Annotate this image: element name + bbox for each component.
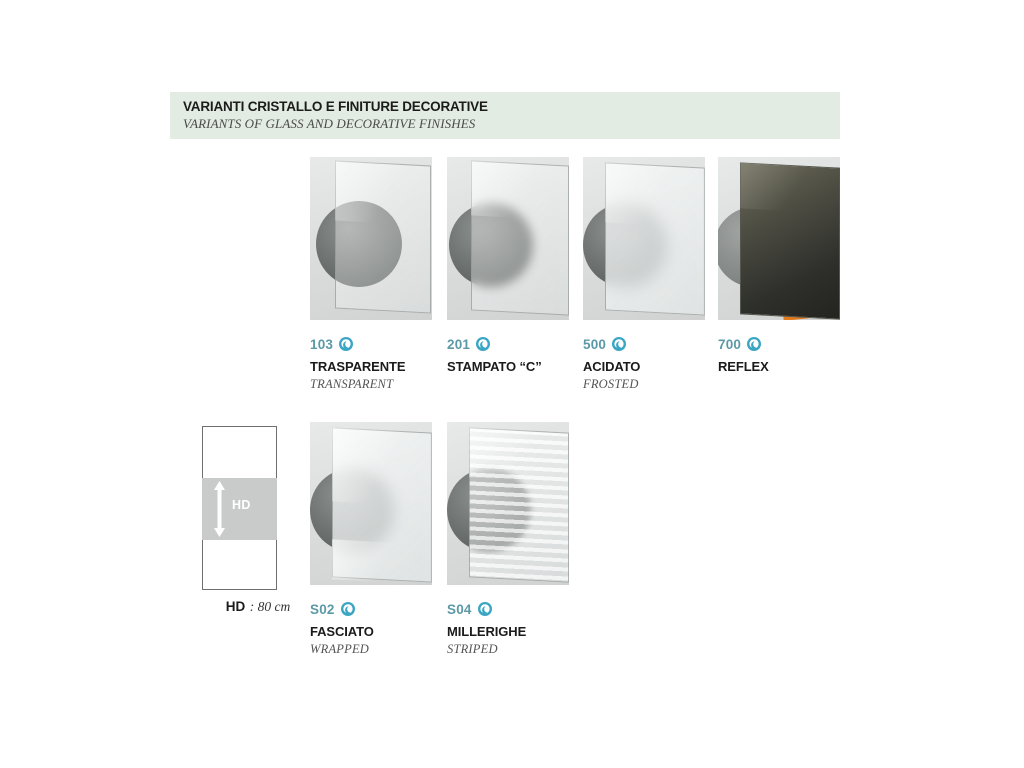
hd-band-label: HD [232, 498, 251, 512]
finish-code: S04 [447, 602, 472, 617]
hd-caption-key: HD [226, 599, 246, 614]
code-line-millerighe: S04 [447, 600, 617, 618]
sample-image-stampato-c [447, 157, 569, 320]
finish-code: 700 [718, 337, 741, 352]
sample-image-acidato [583, 157, 705, 320]
glass-swirl-icon [477, 601, 493, 617]
hd-caption-value: : 80 cm [250, 599, 291, 614]
finish-name-en: FROSTED [583, 377, 753, 392]
finish-code: 500 [583, 337, 606, 352]
section-header-band: VARIANTI CRISTALLO E FINITURE DECORATIVE… [170, 92, 840, 139]
hd-diagram: HD [202, 426, 277, 590]
sample-image-reflex [718, 157, 840, 320]
glass-swirl-icon [611, 336, 627, 352]
caption-millerighe: S04 MILLERIGHE STRIPED [447, 600, 617, 657]
glass-swirl-icon [475, 336, 491, 352]
finish-name-it: MILLERIGHE [447, 624, 617, 639]
page-subtitle: VARIANTS OF GLASS AND DECORATIVE FINISHE… [183, 115, 840, 133]
sample-image-millerighe [447, 422, 569, 585]
finish-name-it: REFLEX [718, 359, 888, 374]
glass-swirl-icon [340, 601, 356, 617]
glass-swirl-icon [746, 336, 762, 352]
caption-reflex: 700 REFLEX [718, 335, 888, 377]
page-title: VARIANTI CRISTALLO E FINITURE DECORATIVE [183, 99, 840, 115]
finish-name-en: TRANSPARENT [310, 377, 480, 392]
sample-image-fasciato [310, 422, 432, 585]
finish-code: S02 [310, 602, 335, 617]
hd-caption: HD : 80 cm [193, 598, 323, 616]
sample-image-trasparente [310, 157, 432, 320]
hd-double-arrow-icon [213, 481, 226, 537]
code-line-reflex: 700 [718, 335, 888, 353]
finish-name-en: STRIPED [447, 642, 617, 657]
finish-code: 103 [310, 337, 333, 352]
glass-swirl-icon [338, 336, 354, 352]
finish-code: 201 [447, 337, 470, 352]
